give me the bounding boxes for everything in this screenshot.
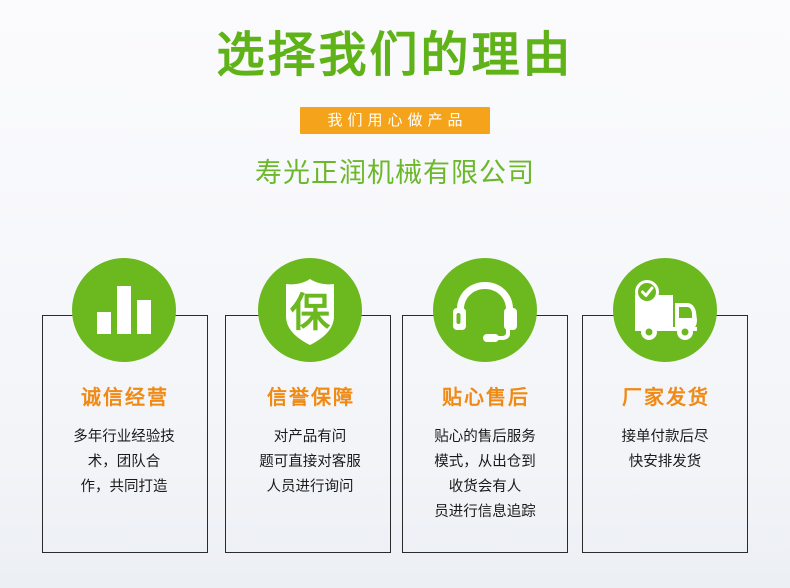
body-line: 模式，从出仓到 [385, 450, 585, 475]
feature-card-body-3: 贴心的售后服务模式，从出仓到收货会有人员进行信息追踪 [385, 425, 585, 525]
body-line: 收货会有人 [385, 475, 585, 500]
feature-card-body-4: 接单付款后尽快安排发货 [565, 425, 765, 475]
body-line: 术，团队合 [24, 450, 224, 475]
body-line: 快安排发货 [565, 450, 765, 475]
body-line: 员进行信息追踪 [385, 500, 585, 525]
feature-card-body-2: 对产品有问题可直接对客服人员进行询问 [210, 425, 410, 500]
body-line: 多年行业经验技 [24, 425, 224, 450]
feature-card-title-1: 诚信经营 [24, 383, 224, 411]
bar-chart-icon [72, 258, 176, 362]
promo-banner-page: 选择我们的理由 我们用心做产品 寿光正润机械有限公司 保 [0, 0, 790, 588]
feature-cards-row: 保 [0, 258, 790, 558]
delivery-truck-check-icon [613, 258, 717, 362]
company-name: 寿光正润机械有限公司 [0, 155, 790, 193]
shield-guarantee-icon: 保 [258, 258, 362, 362]
feature-card-title-4: 厂家发货 [565, 383, 765, 411]
body-line: 接单付款后尽 [565, 425, 765, 450]
tagline-badge: 我们用心做产品 [300, 107, 489, 134]
body-line: 作，共同打造 [24, 475, 224, 500]
headset-support-icon [433, 258, 537, 362]
feature-card-title-2: 信誉保障 [210, 383, 410, 411]
body-line: 贴心的售后服务 [385, 425, 585, 450]
feature-card-body-1: 多年行业经验技术，团队合作，共同打造 [24, 425, 224, 500]
body-line: 对产品有问 [210, 425, 410, 450]
feature-card-title-3: 贴心售后 [385, 383, 585, 411]
page-title: 选择我们的理由 [0, 26, 790, 84]
svg-text:保: 保 [290, 290, 331, 336]
body-line: 人员进行询问 [210, 475, 410, 500]
body-line: 题可直接对客服 [210, 450, 410, 475]
tagline-container: 我们用心做产品 [0, 107, 790, 134]
